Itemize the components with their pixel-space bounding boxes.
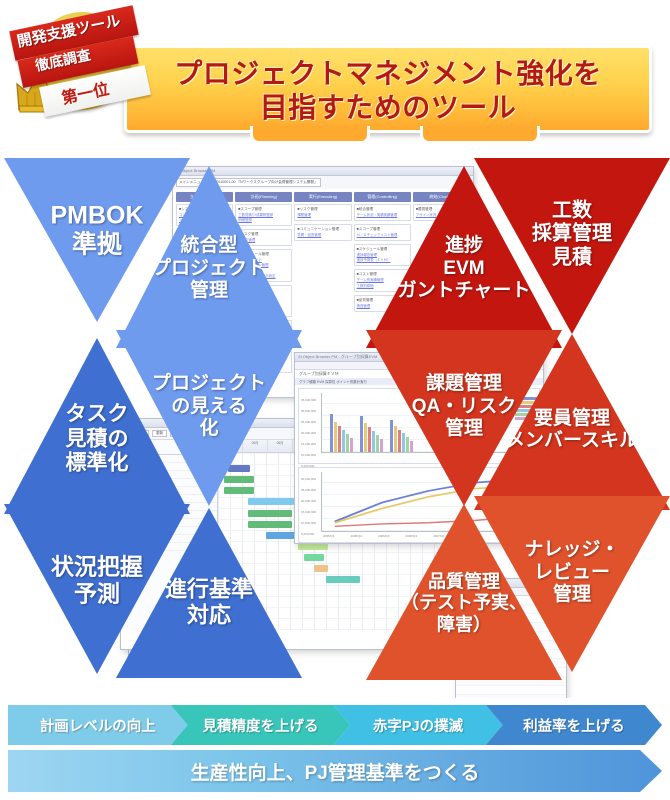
evm-bar-group (330, 414, 353, 452)
menu-group-title: ■統合管理 (357, 207, 408, 212)
evm-ytick: 10,000,000 (301, 450, 316, 461)
evm-bar (394, 426, 397, 452)
menu-column-head-1: 計画(Planning) (235, 192, 292, 202)
evm-bar (380, 439, 383, 452)
triangle-label-cost: 工数 採算管理 見積 (532, 199, 612, 270)
gantt-bar (314, 565, 328, 572)
evm-ytick: 15,000,000 (301, 507, 316, 518)
outcome-step-3[interactable]: 利益率を上げる (486, 705, 662, 745)
triangle-label-progress-std: 進行基準 対応 (165, 576, 253, 628)
menu-tab-1: PJ2010001-00 『Nワークスグループ向け会費管理システム開発』 (209, 178, 321, 187)
menu-column-head-2: 実行(Executing) (294, 192, 351, 202)
evm-bar (398, 430, 401, 452)
menu-group: ■リスク管理課題管理 (294, 204, 351, 221)
evm-ytick: 5,000,000 (301, 529, 316, 540)
evm-filter-2[interactable]: 採算性 (325, 380, 335, 384)
menu-link[interactable]: 課題管理 (297, 213, 348, 218)
page-title-line1: プロジェクトマネジメント強化を (174, 57, 602, 91)
gantt-bar (248, 498, 294, 505)
side-panel-row (456, 686, 566, 695)
outcome-step-0[interactable]: 計画レベルの向上 (8, 705, 188, 745)
evm-ytick: 30,000,000 (301, 474, 316, 485)
evm-bar (334, 422, 337, 452)
triangle-label-status: 状況把握 予測 (51, 553, 143, 607)
evm-bar (330, 414, 333, 452)
evm-bar (376, 435, 379, 452)
evm-bar (364, 423, 367, 452)
side-panel-row (456, 695, 566, 698)
evm-ytick: 20,000,000 (301, 428, 316, 439)
menu-link[interactable]: 質問・回答管理 (297, 233, 348, 238)
evm-filter-3[interactable]: ポイント別集計実行 (336, 380, 367, 384)
evm-ytick: 0 (301, 540, 316, 544)
evm-ytick: 30,000,000 (301, 406, 316, 417)
gantt-bar (248, 521, 292, 528)
menu-window-titlebar: SI Object Browser PM (173, 167, 473, 176)
menu-group: ■スコープ管理工数見積り/成果物登録明細登録 (235, 204, 292, 226)
menu-group: ■スコープ管理Ｎ／Ｄチェックリスト管理 (354, 224, 411, 241)
gantt-bar (304, 554, 324, 561)
evm-bar (406, 437, 409, 452)
evm-xtick: 2007/Q1 (433, 531, 445, 542)
triangle-label-task-std: タスク 見積の 標準化 (66, 402, 129, 476)
evm-bar (360, 416, 363, 452)
menu-group-title: ■スコープ管理 (357, 227, 408, 232)
triangle-label-knowledge: ナレッジ・ レビュー 管理 (524, 540, 619, 607)
evm-line-yticks: 30,000,00025,000,00020,000,00015,000,000… (301, 474, 316, 544)
gantt-bar (326, 576, 360, 583)
evm-xtick: 2005/Q1 (323, 531, 335, 542)
menu-group: ■スケジュール管理進捗報告管理進捗予測表（ＥＶＭ） (354, 244, 411, 266)
evm-bar (410, 441, 413, 452)
gantt-month: 05月 (243, 440, 268, 452)
triangle-label-integrated: 統合型 プロジェクト 管理 (152, 235, 266, 302)
gantt-bar (224, 476, 254, 483)
page-title: プロジェクトマネジメント強化を 目指すためのツール (124, 48, 652, 134)
evm-bar (390, 420, 393, 452)
menu-group-title: ■スコープ管理 (238, 207, 289, 212)
evm-ytick: 10,000,000 (301, 518, 316, 529)
triangle-label-issue: 課題管理 QA・リスク 管理 (412, 374, 517, 441)
menu-group: ■統合管理チーム状況・実績実績管理 (354, 204, 411, 221)
evm-xtick: 2006/Q4 (406, 531, 418, 542)
evm-xtick: 2006/Q3 (378, 531, 390, 542)
outcome-summary: 生産性向上、PJ管理基準をつくる (8, 750, 662, 792)
gantt-bar (224, 487, 254, 494)
menu-group-title: ■コスト管理 (357, 272, 408, 277)
menu-group: ■コミュニケーション管理質問・回答管理 (294, 224, 351, 241)
evm-bar (346, 434, 349, 452)
evm-ytick: 25,000,000 (301, 417, 316, 428)
diagram-stage: SI Object Browser PM メインメニュー PJ2010001-0… (0, 148, 670, 698)
outcome-step-1[interactable]: 見積精度を上げる (171, 705, 351, 745)
page-title-line2: 目指すためのツール (260, 91, 517, 125)
evm-bar (402, 433, 405, 452)
outcome-steps: 計画レベルの向上見積精度を上げる赤字PJの撲滅利益率を上げる (8, 705, 662, 745)
gantt-update-button[interactable]: 更新 (152, 430, 167, 437)
gantt-bar (228, 465, 250, 472)
outcome-step-2[interactable]: 赤字PJの撲滅 (333, 705, 502, 745)
gantt-month: 06月 (268, 440, 293, 452)
evm-filter-1[interactable]: EVM (317, 380, 324, 384)
evm-bar-group (360, 416, 383, 452)
evm-ytick: 25,000,000 (301, 485, 316, 496)
header: プロジェクトマネジメント強化を 目指すためのツール 開発支援ツール 徹底調査 第… (0, 0, 670, 150)
evm-filter-0[interactable]: グラフ種類 (299, 380, 316, 384)
evm-ytick: 15,000,000 (301, 439, 316, 450)
infographic-root: プロジェクトマネジメント強化を 目指すためのツール 開発支援ツール 徹底調査 第… (0, 0, 670, 800)
evm-bar-group (390, 420, 413, 452)
menu-column-2: 実行(Executing)■リスク管理課題管理■コミュニケーション管理質問・回答… (294, 192, 351, 376)
evm-ytick: 35,000,000 (301, 395, 316, 406)
rank-badge: 開発支援ツール 徹底調査 第一位 (3, 4, 143, 124)
menu-group-title: ■リスク管理 (238, 232, 289, 237)
evm-xtick: 2005/Q4 (351, 531, 363, 542)
evm-bar (372, 431, 375, 452)
triangle-label-pmbok: PMBOK 準拠 (50, 201, 143, 260)
menu-link[interactable]: 進捗予測表（ＥＶＭ） (357, 258, 408, 263)
evm-bar (338, 426, 341, 452)
evm-bar (368, 427, 371, 452)
menu-link[interactable]: チーム状況・実績実績管理 (357, 213, 408, 218)
outcome-flow: 計画レベルの向上見積精度を上げる赤字PJの撲滅利益率を上げる 生産性向上、PJ管… (0, 700, 670, 800)
menu-link[interactable]: 明細登録 (238, 218, 289, 223)
menu-group-title: ■スケジュール管理 (357, 247, 408, 252)
menu-group-title: ■リスク管理 (297, 207, 348, 212)
evm-bar (342, 430, 345, 452)
menu-column-head-3: 管理(Controlling) (354, 192, 411, 202)
evm-ytick: 20,000,000 (301, 496, 316, 507)
menu-link[interactable]: Ｎ／Ｄチェックリスト管理 (357, 233, 408, 238)
gantt-bar (248, 510, 292, 517)
evm-bar (350, 438, 353, 452)
menu-group-title: ■コミュニケーション管理 (297, 227, 348, 232)
